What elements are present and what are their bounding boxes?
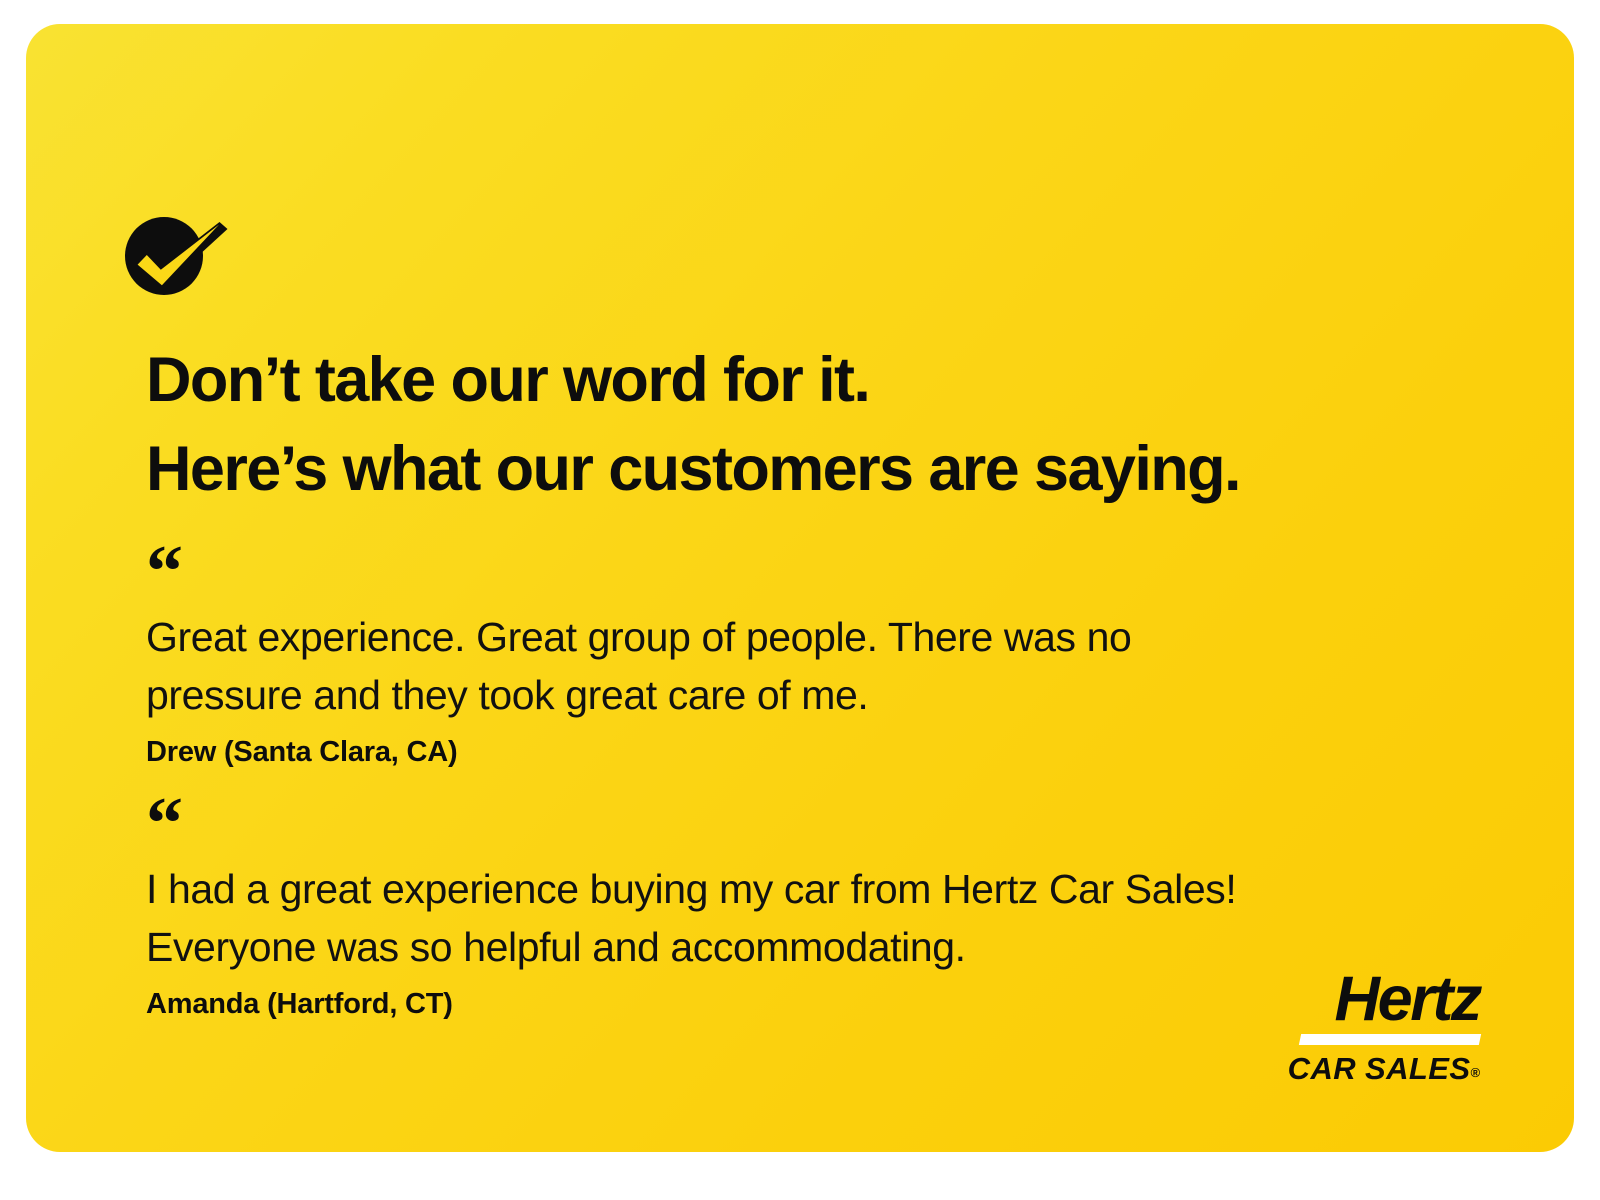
quote-open-icon: “ xyxy=(146,552,1506,592)
testimonial-quote: I had a great experience buying my car f… xyxy=(146,860,1506,976)
logo-subtitle-text: CAR SALES xyxy=(1288,1051,1471,1086)
logo-subtitle: CAR SALES® xyxy=(1266,1052,1480,1090)
headline-line-1: Don’t take our word for it. xyxy=(146,336,1506,425)
testimonial-attribution: Drew (Santa Clara, CA) xyxy=(146,735,1506,769)
headline-line-2: Here’s what our customers are saying. xyxy=(146,425,1506,514)
check-circle-icon xyxy=(122,212,230,316)
quote-line-1: I had a great experience buying my car f… xyxy=(146,860,1506,918)
testimonial-item: “ Great experience. Great group of peopl… xyxy=(146,552,1506,769)
page-title: Don’t take our word for it. Here’s what … xyxy=(146,336,1506,514)
quote-line-2: pressure and they took great care of me. xyxy=(146,666,1506,724)
hertz-wordmark: Hertz xyxy=(1266,967,1480,1031)
testimonial-quote: Great experience. Great group of people.… xyxy=(146,608,1506,724)
quote-line-1: Great experience. Great group of people.… xyxy=(146,608,1506,666)
logo-underline-bar xyxy=(1299,1034,1481,1045)
testimonial-card: Don’t take our word for it. Here’s what … xyxy=(26,24,1574,1152)
registered-trademark-icon: ® xyxy=(1470,1065,1480,1080)
hertz-car-sales-logo: Hertz CAR SALES® xyxy=(1266,967,1480,1090)
quote-open-icon: “ xyxy=(146,804,1506,844)
